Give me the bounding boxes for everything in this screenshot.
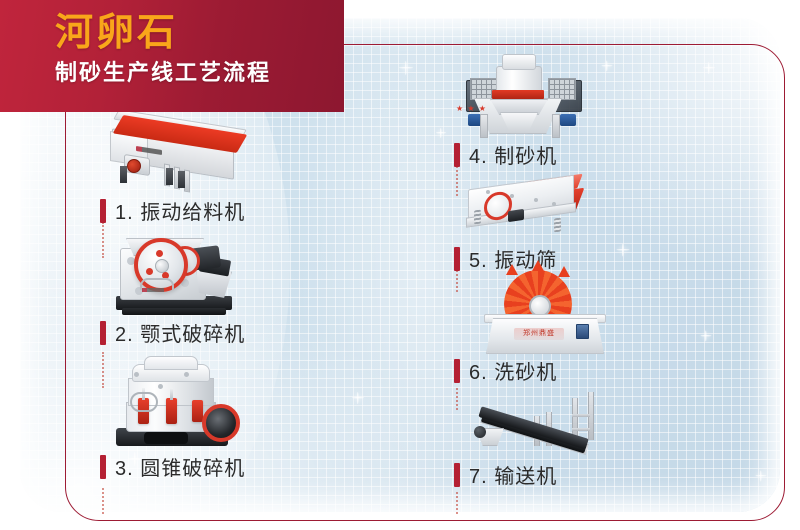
flow-step-7[interactable]: 7. 输送机 bbox=[440, 388, 740, 498]
flow-step-2[interactable]: 2. 颚式破碎机 bbox=[86, 222, 386, 340]
vibrating-screen-icon bbox=[462, 166, 612, 242]
label-accent-bar bbox=[454, 359, 460, 383]
label-accent-bar bbox=[100, 321, 106, 345]
jaw-crusher-icon bbox=[112, 222, 242, 322]
banner-title: 河卵石 bbox=[55, 14, 178, 52]
flow-step-1-label: 1. 振动给料机 bbox=[100, 196, 245, 225]
label-accent-bar bbox=[454, 463, 460, 487]
flow-step-5[interactable]: 5. 振动筛 bbox=[440, 166, 740, 276]
flow-step-6-text: 6. 洗砂机 bbox=[469, 356, 557, 385]
belt-conveyor-icon bbox=[476, 388, 606, 468]
flow-step-4-label: 4. 制砂机 bbox=[454, 140, 557, 169]
flow-step-1[interactable]: 1. 振动给料机 bbox=[86, 116, 386, 221]
vibrating-feeder-icon bbox=[102, 116, 262, 194]
label-accent-bar bbox=[454, 247, 460, 271]
flow-step-4[interactable]: ★ ★ ★ 4. 制砂机 bbox=[440, 52, 740, 167]
cone-crusher-icon bbox=[114, 352, 240, 452]
flow-step-3-text: 3. 圆锥破碎机 bbox=[115, 452, 245, 481]
flow-step-2-text: 2. 颚式破碎机 bbox=[115, 318, 245, 347]
flow-step-3-label: 3. 圆锥破碎机 bbox=[100, 452, 245, 481]
flow-step-6-label: 6. 洗砂机 bbox=[454, 356, 557, 385]
banner-subtitle: 制砂生产线工艺流程 bbox=[55, 62, 271, 84]
flow-step-3[interactable]: 3. 圆锥破碎机 bbox=[86, 352, 386, 482]
flow-step-7-text: 7. 输送机 bbox=[469, 460, 557, 489]
sand-washing-machine-icon: 郑州鼎盛 bbox=[480, 268, 610, 358]
flow-step-2-label: 2. 颚式破碎机 bbox=[100, 318, 245, 347]
flow-step-7-label: 7. 输送机 bbox=[454, 460, 557, 489]
flow-column-right: ★ ★ ★ 4. 制砂机 bbox=[440, 0, 770, 530]
label-accent-bar bbox=[454, 143, 460, 167]
poster-canvas: 河卵石 制砂生产线工艺流程 bbox=[0, 0, 800, 530]
flow-step-1-text: 1. 振动给料机 bbox=[115, 196, 245, 225]
flow-connector bbox=[102, 488, 104, 514]
flow-step-6[interactable]: 郑州鼎盛 6. 洗砂机 bbox=[440, 268, 740, 388]
header-banner: 河卵石 制砂生产线工艺流程 bbox=[0, 0, 344, 112]
sand-making-machine-icon: ★ ★ ★ bbox=[456, 52, 596, 144]
label-accent-bar bbox=[100, 455, 106, 479]
flow-step-4-text: 4. 制砂机 bbox=[469, 140, 557, 169]
label-accent-bar bbox=[100, 199, 106, 223]
